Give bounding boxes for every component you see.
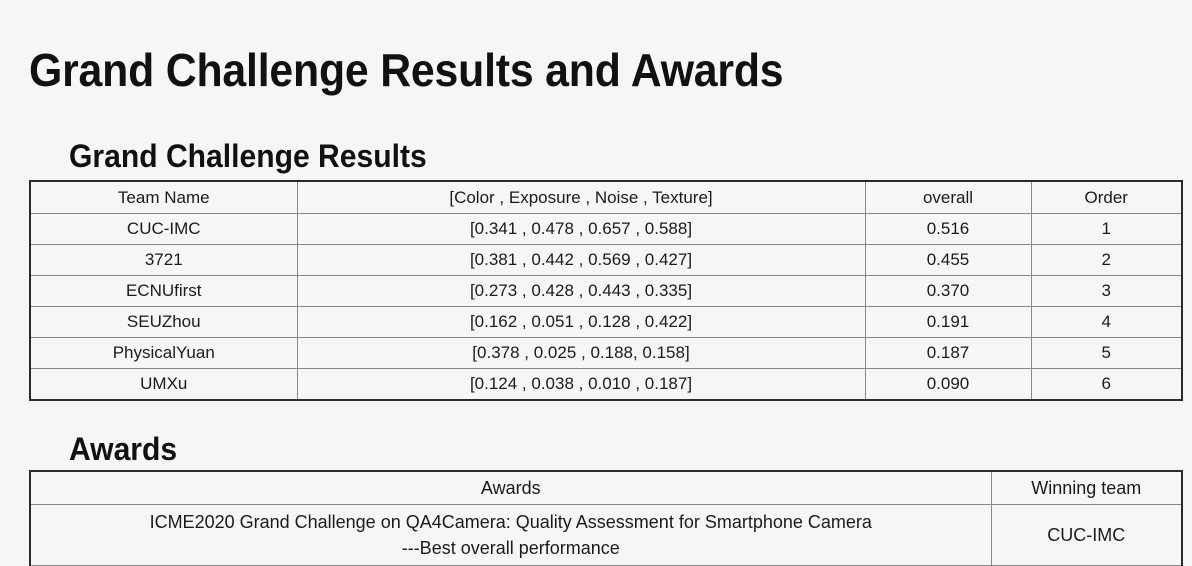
award-subtitle-line: ---Best overall performance [35,535,987,561]
cell-order: 2 [1031,245,1182,276]
cell-award-description: ICME2020 Grand Challenge on QA4Camera: Q… [30,505,991,566]
section-heading-awards: Awards [69,429,177,469]
column-header-winning-team: Winning team [991,471,1182,505]
cell-metrics: [0.124 , 0.038 , 0.010 , 0.187] [297,369,865,401]
cell-team-name: UMXu [30,369,297,401]
cell-overall: 0.090 [865,369,1031,401]
section-heading-results: Grand Challenge Results [69,136,427,176]
cell-team-name: SEUZhou [30,307,297,338]
column-header-metrics: [Color , Exposure , Noise , Texture] [297,181,865,214]
table-row: PhysicalYuan [0.378 , 0.025 , 0.188, 0.1… [30,338,1182,369]
cell-metrics: [0.162 , 0.051 , 0.128 , 0.422] [297,307,865,338]
cell-team-name: PhysicalYuan [30,338,297,369]
cell-order: 4 [1031,307,1182,338]
table-row: UMXu [0.124 , 0.038 , 0.010 , 0.187] 0.0… [30,369,1182,401]
awards-header-row: Awards Winning team [30,471,1182,505]
cell-team-name: ECNUfirst [30,276,297,307]
table-row: SEUZhou [0.162 , 0.051 , 0.128 , 0.422] … [30,307,1182,338]
cell-overall: 0.370 [865,276,1031,307]
column-header-team-name: Team Name [30,181,297,214]
cell-team-name: 3721 [30,245,297,276]
cell-overall: 0.187 [865,338,1031,369]
page-title: Grand Challenge Results and Awards [29,42,783,98]
column-header-order: Order [1031,181,1182,214]
cell-metrics: [0.378 , 0.025 , 0.188, 0.158] [297,338,865,369]
award-title-line: ICME2020 Grand Challenge on QA4Camera: Q… [35,509,987,535]
column-header-overall: overall [865,181,1031,214]
cell-overall: 0.191 [865,307,1031,338]
results-table: Team Name [Color , Exposure , Noise , Te… [29,180,1183,401]
cell-overall: 0.516 [865,214,1031,245]
cell-metrics: [0.273 , 0.428 , 0.443 , 0.335] [297,276,865,307]
cell-order: 6 [1031,369,1182,401]
cell-metrics: [0.341 , 0.478 , 0.657 , 0.588] [297,214,865,245]
awards-row: ICME2020 Grand Challenge on QA4Camera: Q… [30,505,1182,566]
document-page: Grand Challenge Results and Awards Grand… [0,0,1192,564]
cell-overall: 0.455 [865,245,1031,276]
table-row: ECNUfirst [0.273 , 0.428 , 0.443 , 0.335… [30,276,1182,307]
cell-order: 5 [1031,338,1182,369]
column-header-awards: Awards [30,471,991,505]
cell-winning-team: CUC-IMC [991,505,1182,566]
table-row: CUC-IMC [0.341 , 0.478 , 0.657 , 0.588] … [30,214,1182,245]
awards-table: Awards Winning team ICME2020 Grand Chall… [29,470,1183,566]
table-row: 3721 [0.381 , 0.442 , 0.569 , 0.427] 0.4… [30,245,1182,276]
cell-metrics: [0.381 , 0.442 , 0.569 , 0.427] [297,245,865,276]
cell-team-name: CUC-IMC [30,214,297,245]
cell-order: 3 [1031,276,1182,307]
table-header-row: Team Name [Color , Exposure , Noise , Te… [30,181,1182,214]
cell-order: 1 [1031,214,1182,245]
